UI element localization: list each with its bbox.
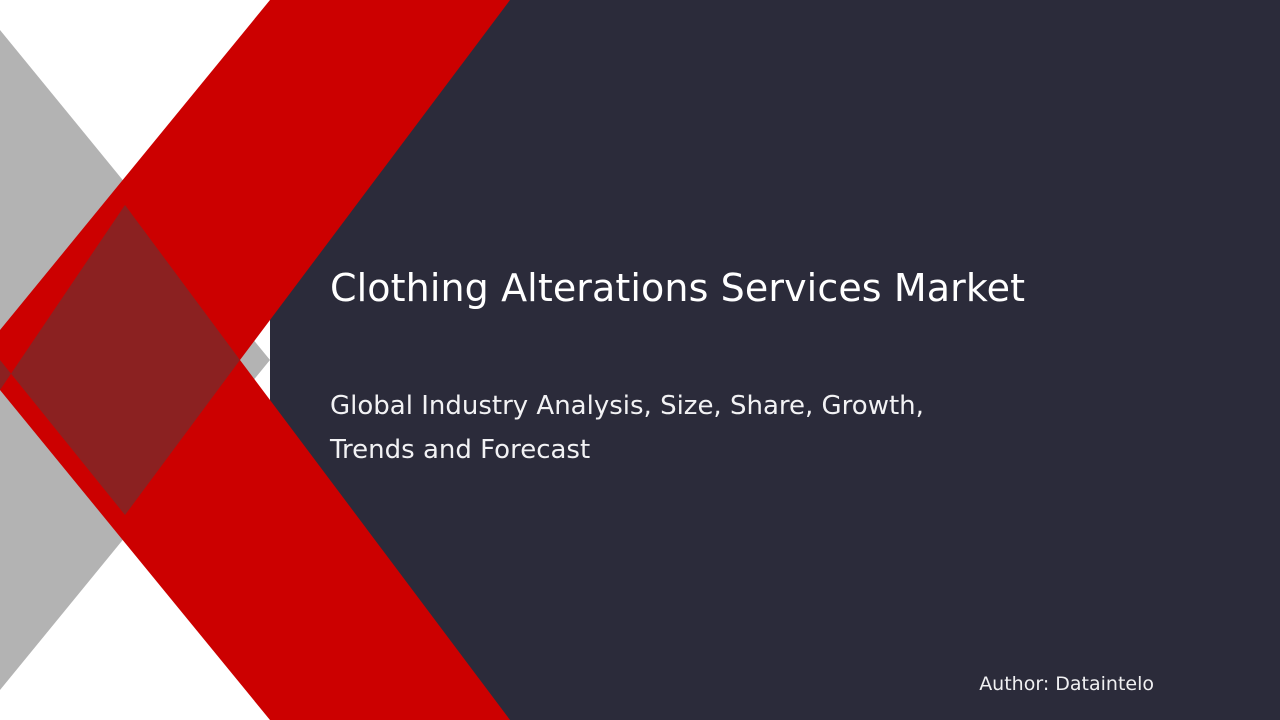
slide-content: Clothing Alterations Services Market Glo… — [0, 0, 1280, 720]
author-credit: Author: Dataintelo — [700, 670, 1154, 698]
slide-subtitle: Global Industry Analysis, Size, Share, G… — [330, 384, 1030, 472]
page-title: Clothing Alterations Services Market — [330, 262, 1210, 314]
subtitle-line-2: Trends and Forecast — [330, 428, 1030, 472]
subtitle-line-1: Global Industry Analysis, Size, Share, G… — [330, 384, 1030, 428]
title-slide: Clothing Alterations Services Market Glo… — [0, 0, 1280, 720]
